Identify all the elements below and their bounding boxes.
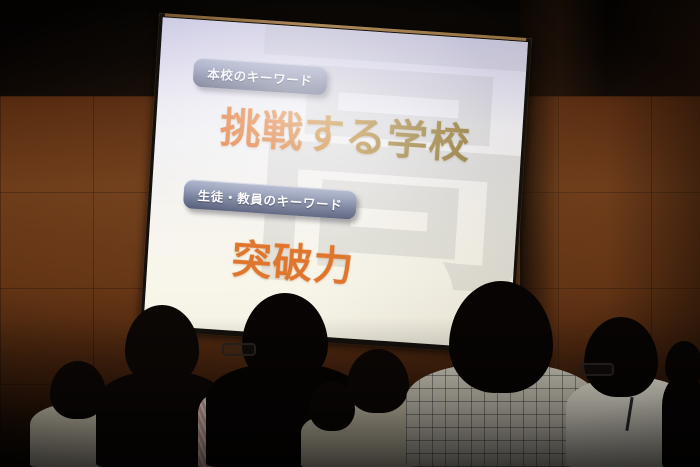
person-2-head bbox=[125, 305, 199, 385]
slide-label-student-teacher-keyword: 生徒・教員のキーワード bbox=[183, 179, 358, 220]
audience-person-5b bbox=[300, 375, 364, 467]
person-4-glasses-icon bbox=[222, 343, 256, 356]
person-6-head bbox=[449, 281, 553, 393]
person-8-head bbox=[665, 341, 700, 387]
person-7-head bbox=[584, 317, 658, 397]
audience-person-8 bbox=[662, 335, 700, 467]
photo-scene: 高 本校のキーワード 挑戦する学校 生徒・教員のキーワード 突破力 bbox=[0, 0, 700, 467]
slide-label-school-keyword: 本校のキーワード bbox=[193, 57, 328, 95]
person-5b-head bbox=[309, 381, 355, 431]
audience-group bbox=[0, 277, 700, 467]
person-7-glasses-icon bbox=[580, 363, 614, 376]
slide-headline-challenging-school: 挑戦する学校 bbox=[218, 93, 472, 170]
person-4-head bbox=[242, 293, 328, 383]
person-8-torso bbox=[662, 375, 700, 467]
